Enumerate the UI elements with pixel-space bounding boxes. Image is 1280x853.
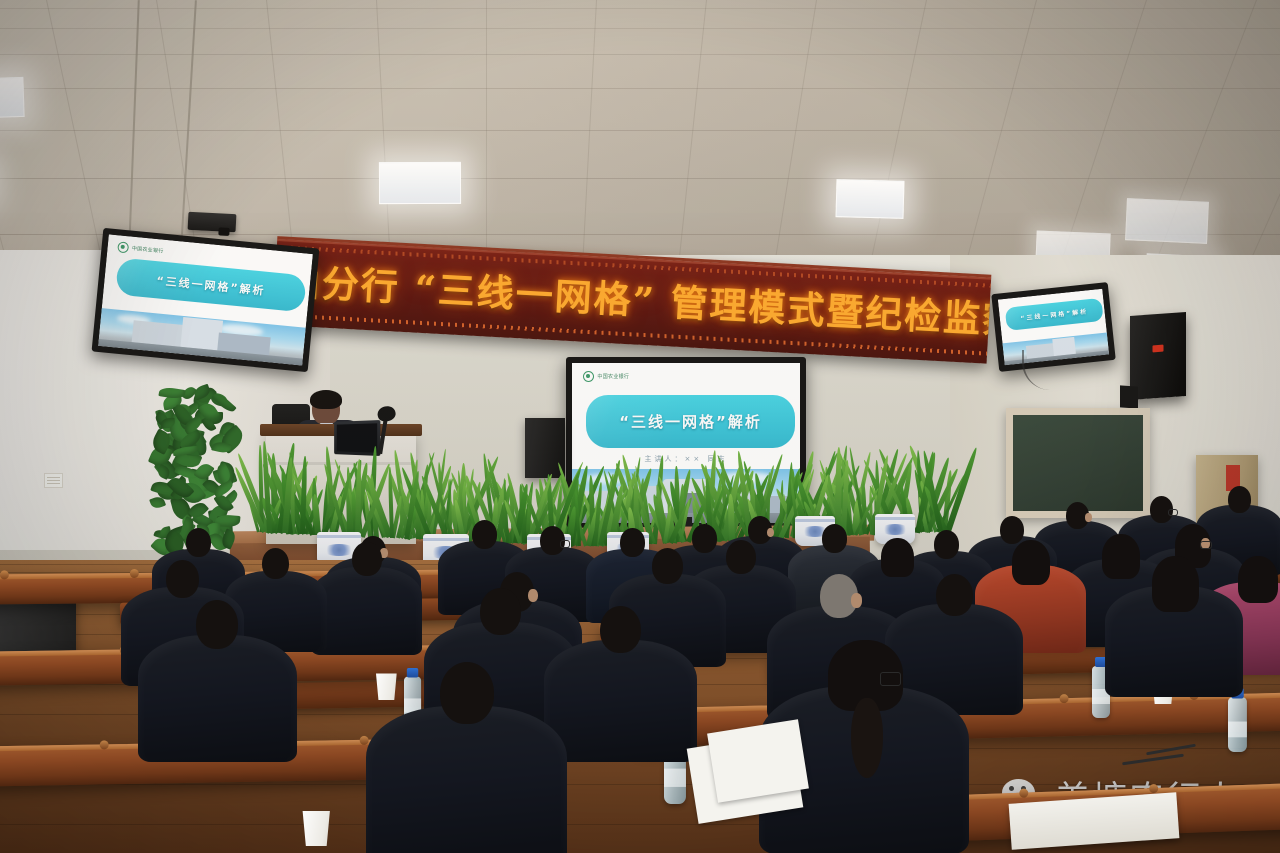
audience-member — [440, 662, 641, 853]
audience-member-head — [620, 528, 645, 557]
right-slide-title: “三线一网格”解析 — [1020, 306, 1088, 322]
laptop-screen — [337, 423, 377, 452]
ceiling-grid-line — [769, 0, 817, 296]
audience-member-torso — [138, 635, 297, 762]
light-switch-plate[interactable] — [44, 473, 63, 488]
audience-member-head — [166, 560, 199, 598]
audience-member-ponytail — [851, 698, 883, 779]
audience-member-head — [600, 606, 641, 653]
audience-member-head — [652, 548, 683, 584]
left-display-screen: 中国农业银行 “三线一网格”解析 — [98, 234, 313, 365]
right-wall-display[interactable]: “三线一网格”解析 — [991, 282, 1116, 372]
presenter-hair — [310, 390, 342, 409]
jbl-wall-speaker — [1130, 312, 1186, 400]
ceiling-grid-line — [864, 0, 927, 294]
jbl-logo-badge — [1153, 345, 1164, 353]
left-wall-display[interactable]: 中国农业银行 “三线一网格”解析 — [92, 228, 320, 372]
audience-member-glasses — [880, 672, 901, 686]
ceiling-grid-line — [0, 0, 15, 290]
left-slide: 中国农业银行 “三线一网格”解析 — [98, 234, 313, 365]
audience-member-hair — [881, 538, 914, 577]
bottle-cap — [407, 668, 418, 678]
audience-member-head — [196, 600, 238, 649]
audience-member-head — [440, 662, 494, 724]
abc-logo-main: 中国农业银行 — [583, 371, 629, 382]
ceiling-projector — [188, 212, 237, 232]
ceiling-light-panel — [0, 77, 25, 119]
left-slide-title: “三线一网格”解析 — [156, 272, 266, 298]
main-slide-title: “三线一网格”解析 — [619, 411, 762, 432]
conference-room-photo: 曲分行 “三线一网格” 管理模式暨纪检监察业务培训 中国农业银行 “三线一网格”… — [0, 0, 1280, 853]
desk-knob — [0, 570, 9, 579]
ceiling-grid-line — [0, 8, 1280, 9]
ceiling-light-panel — [1125, 198, 1209, 244]
ceiling-grid-line — [0, 130, 1280, 131]
ceiling-grid-line — [675, 0, 707, 298]
desk-knob — [130, 569, 139, 578]
right-display-screen: “三线一网格”解析 — [998, 289, 1109, 366]
right-slide-photo — [1002, 332, 1109, 365]
audience-member-glasses — [1168, 509, 1178, 516]
audience-member-hair — [1152, 556, 1199, 612]
abc-logo-text-main: 中国农业银行 — [597, 373, 629, 380]
abc-logo-mark-main — [583, 371, 594, 382]
audience-member — [196, 600, 355, 776]
ceiling-light-panel — [836, 179, 905, 219]
main-slide-band: “三线一网格”解析 — [586, 395, 796, 448]
audience-member — [1156, 556, 1280, 709]
audience-member-head — [936, 574, 973, 616]
bottle-label — [1228, 722, 1247, 737]
right-slide-band: “三线一网格”解析 — [1005, 298, 1103, 330]
right-slide: “三线一网格”解析 — [998, 289, 1109, 366]
abc-logo-text: 中国农业银行 — [132, 244, 164, 254]
audience-member-face — [851, 593, 863, 608]
audience-member-head — [186, 528, 211, 557]
audience-member-head — [472, 520, 497, 549]
ceiling-light-panel — [379, 162, 461, 204]
banner-text: 曲分行 “三线一网格” 管理模式暨纪检监察业务培训 — [282, 263, 984, 338]
ceiling-grid-line — [0, 28, 1280, 29]
audience-member-glasses — [560, 540, 571, 547]
ceiling-grid-line — [958, 0, 1037, 290]
speaker-mount-arm — [1120, 385, 1138, 408]
abc-logo-mark — [117, 241, 129, 253]
abc-logo-left: 中国农业银行 — [117, 241, 164, 256]
handout-paper — [707, 719, 809, 803]
desk-knob — [100, 740, 109, 749]
audience-member-head — [480, 588, 521, 635]
left-slide-band: “三线一网格”解析 — [115, 258, 306, 313]
ceiling-grid-line — [0, 88, 1280, 89]
projector-lens — [218, 227, 229, 236]
audience-member-torso — [366, 706, 567, 853]
